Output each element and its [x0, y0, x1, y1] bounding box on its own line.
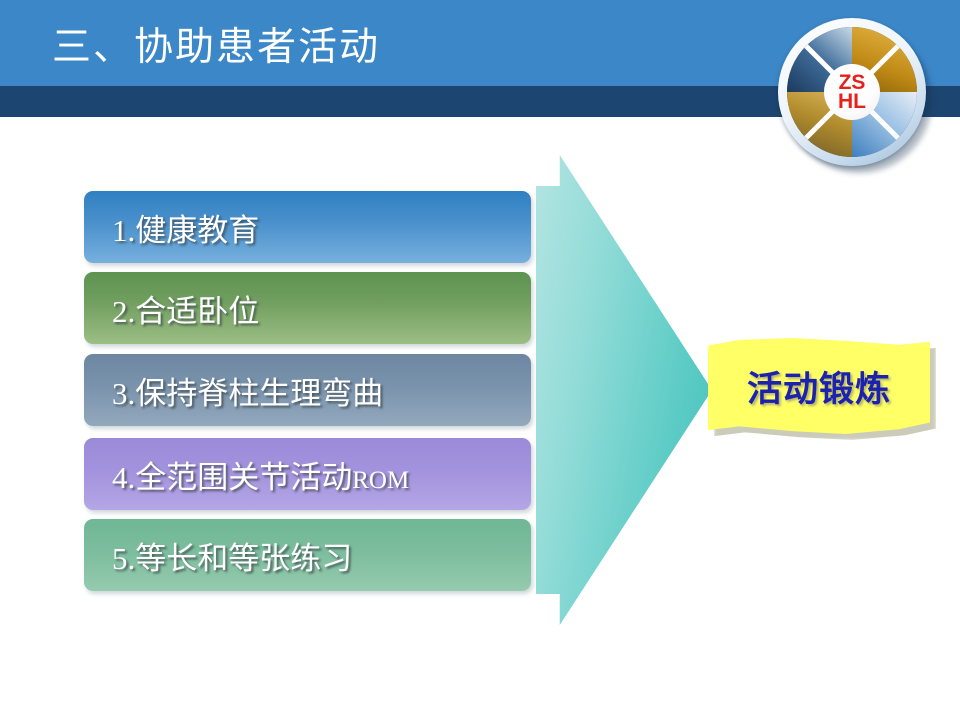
- page-title: 三、协助患者活动: [52, 24, 380, 72]
- flow-box-4[interactable]: 4.全范围关节活动ROM: [84, 438, 531, 510]
- flow-box-4-text: 4.全范围关节活动: [112, 460, 352, 495]
- logo: ZS HL: [778, 18, 932, 172]
- result-banner-label: 活动锻炼: [747, 361, 891, 412]
- flow-box-4-label: 4.全范围关节活动ROM: [84, 452, 409, 497]
- flow-box-2-label: 2.合适卧位: [84, 286, 259, 331]
- flow-box-3-label: 3.保持脊柱生理弯曲: [84, 368, 383, 413]
- flow-box-1-label: 1.健康教育: [84, 205, 259, 250]
- flow-box-1[interactable]: 1.健康教育: [84, 191, 531, 263]
- result-banner-flag: 活动锻炼: [708, 338, 930, 434]
- logo-ring: ZS HL: [778, 18, 926, 166]
- flow-box-5[interactable]: 5.等长和等张练习: [84, 519, 531, 591]
- flow-box-3[interactable]: 3.保持脊柱生理弯曲: [84, 354, 531, 426]
- flow-box-2[interactable]: 2.合适卧位: [84, 272, 531, 344]
- result-banner[interactable]: 活动锻炼: [708, 338, 940, 446]
- flow-box-4-suffix: ROM: [352, 467, 409, 494]
- flow-box-5-label: 5.等长和等张练习: [84, 533, 352, 578]
- right-arrow-icon: [536, 155, 712, 625]
- logo-hub: ZS HL: [824, 64, 880, 120]
- logo-text-line2: HL: [838, 92, 866, 111]
- slide: 三、协助患者活动 ZS HL 1.健康教育 2.合适卧位 3.保持脊柱生理弯曲: [0, 0, 960, 720]
